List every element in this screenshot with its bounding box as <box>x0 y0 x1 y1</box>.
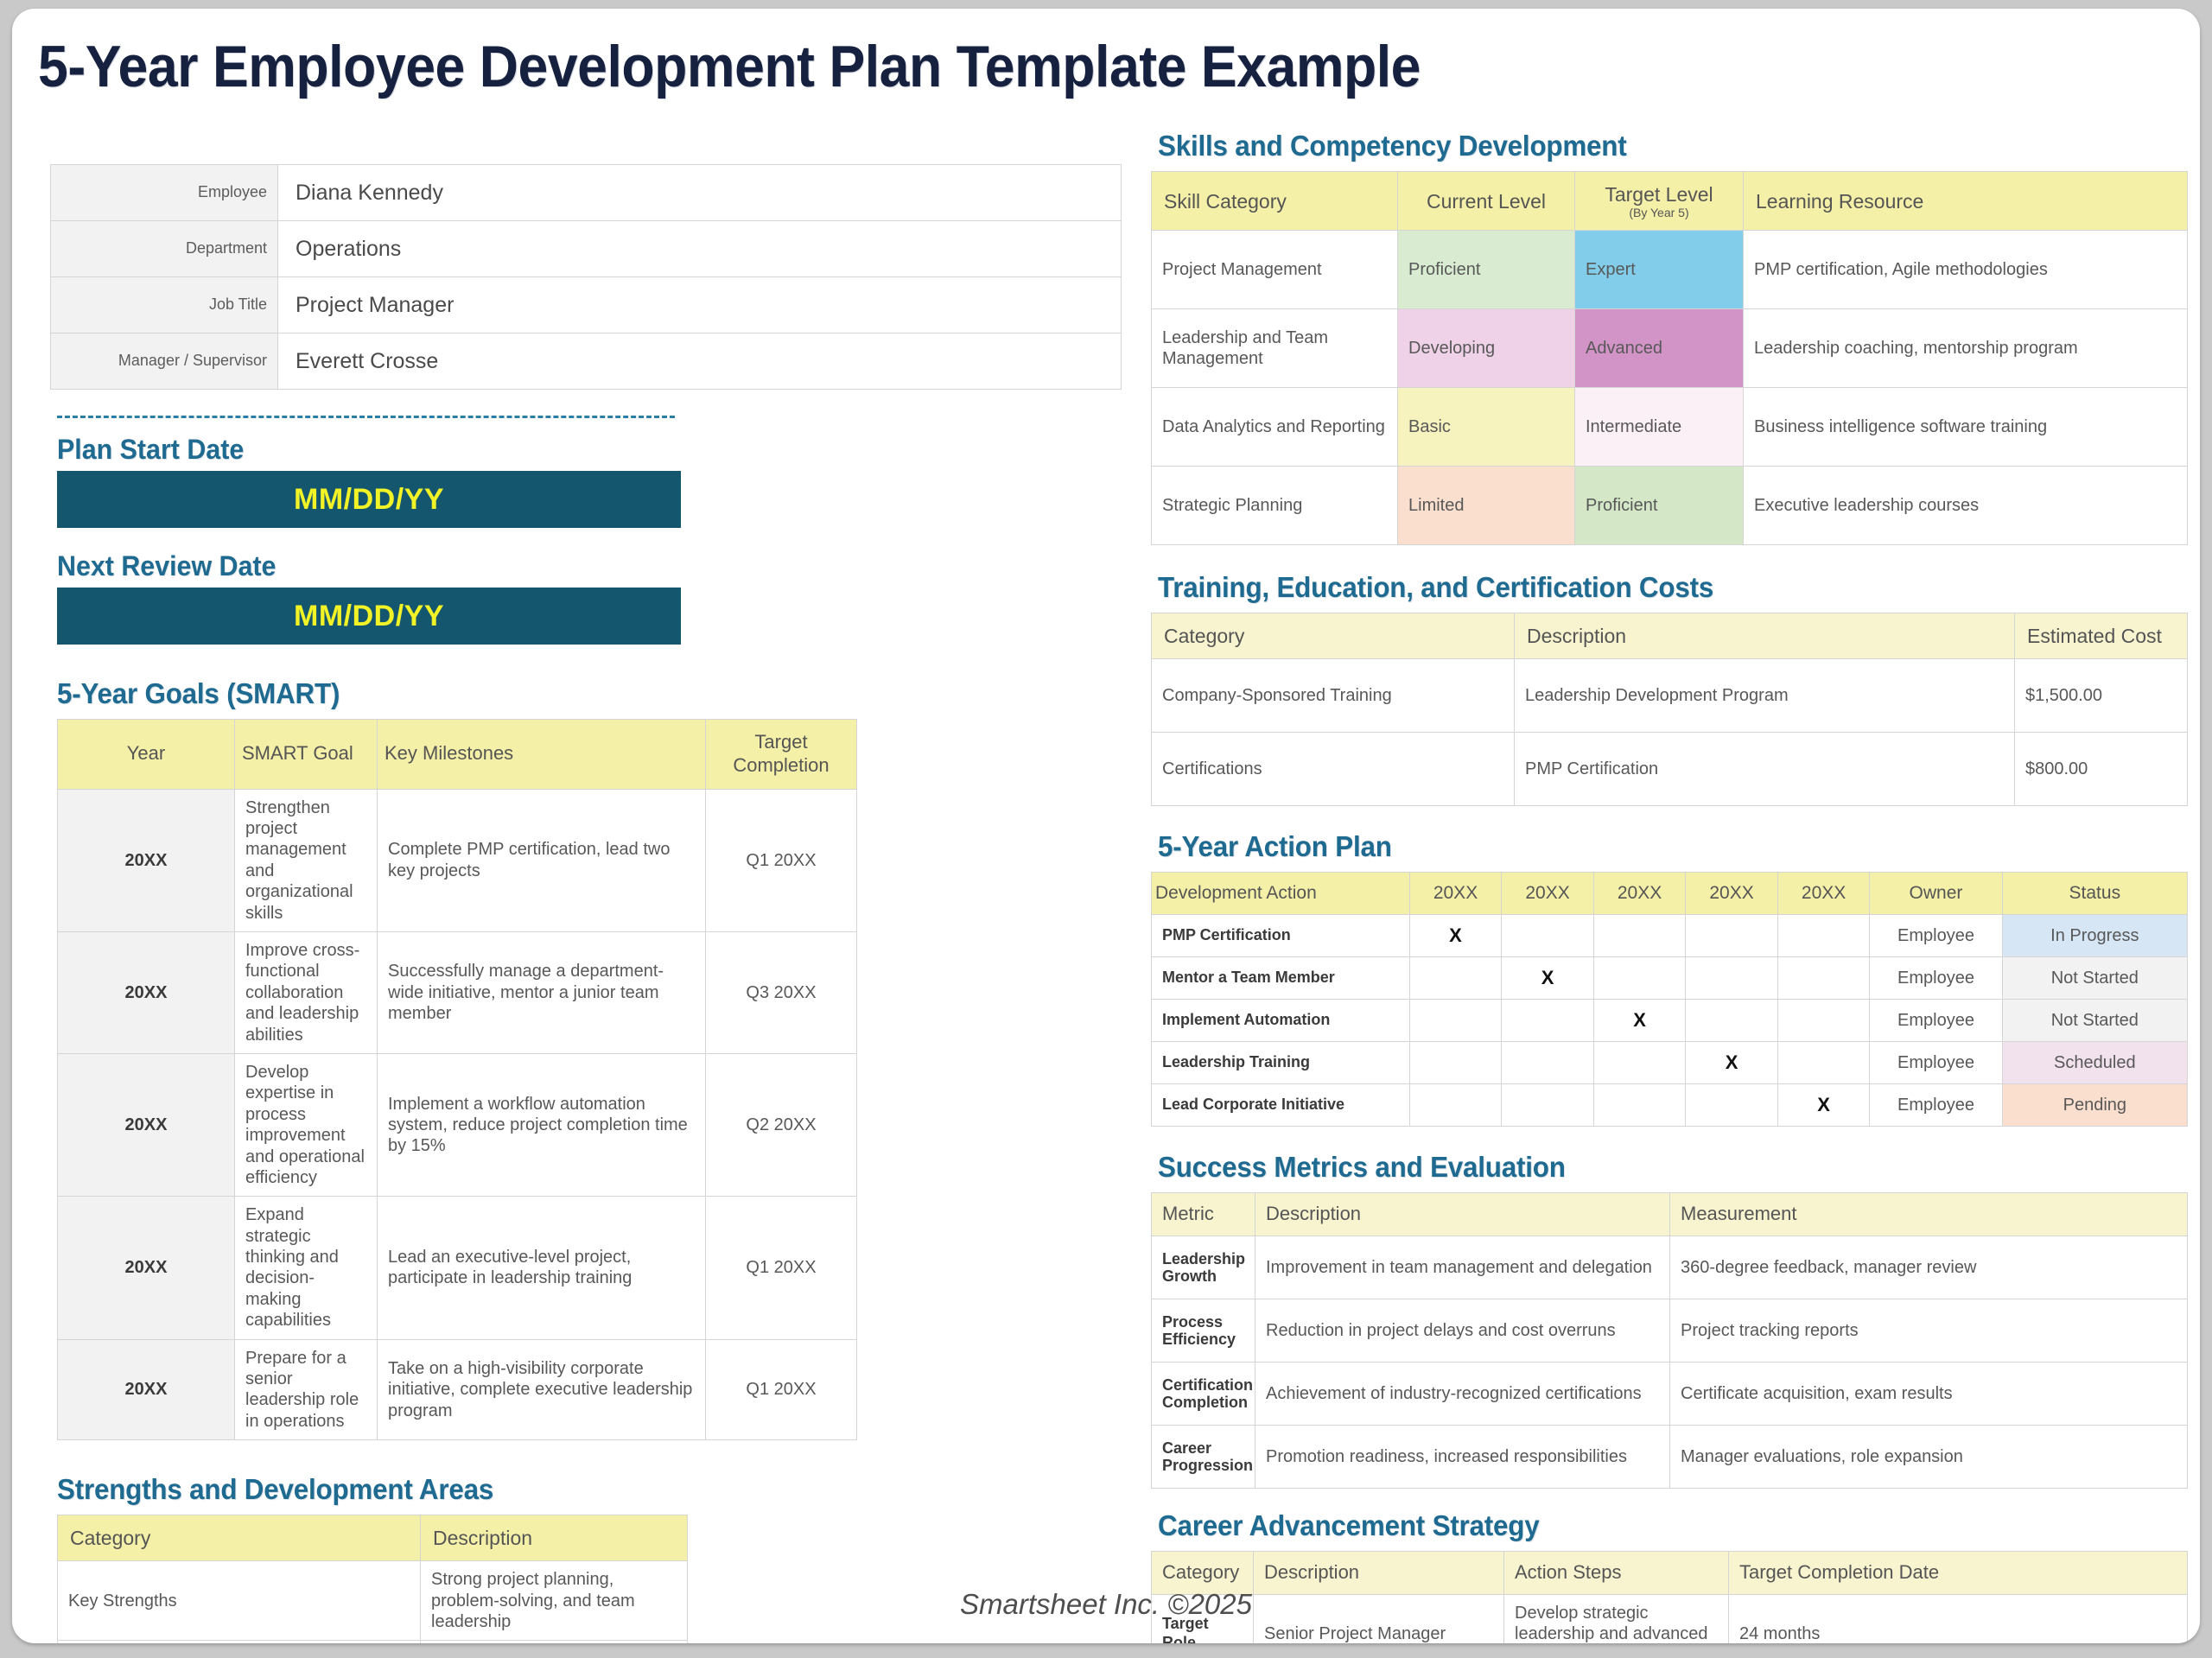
action-year-mark[interactable] <box>1777 1000 1870 1042</box>
action-year-mark[interactable] <box>1686 915 1778 957</box>
action-name: Mentor a Team Member <box>1152 957 1410 1000</box>
cost-description: Leadership Development Program <box>1515 659 2015 733</box>
skill-category: Leadership and Team Management <box>1152 309 1398 388</box>
action-year-mark[interactable] <box>1593 957 1686 1000</box>
action-owner: Employee <box>1870 957 2002 1000</box>
action-col-owner: Owner <box>1870 873 2002 915</box>
action-year-mark[interactable] <box>1777 1042 1870 1084</box>
skills-heading: Skills and Competency Development <box>1158 130 2136 162</box>
goal-year: 20XX <box>58 932 235 1054</box>
goal-smart: Develop expertise in process improvement… <box>235 1053 378 1196</box>
department-label: Department <box>51 221 278 277</box>
skill-resource: Leadership coaching, mentorship program <box>1744 309 2188 388</box>
action-col-year-5: 20XX <box>1777 873 1870 915</box>
cost-description: PMP Certification <box>1515 733 2015 806</box>
skill-resource: Business intelligence software training <box>1744 388 2188 467</box>
action-plan-table: Development Action 20XX 20XX 20XX 20XX 2… <box>1151 872 2188 1127</box>
table-row: Areas for Development Advanced data anal… <box>58 1641 688 1643</box>
strengths-heading: Strengths and Development Areas <box>57 1473 1068 1506</box>
table-row: Leadership and Team Management Developin… <box>1152 309 2188 388</box>
metric-description: Reduction in project delays and cost ove… <box>1255 1299 1670 1362</box>
action-owner: Employee <box>1870 1084 2002 1127</box>
skill-current-level: Developing <box>1398 309 1575 388</box>
action-name: Leadership Training <box>1152 1042 1410 1084</box>
table-row: Process Efficiency Reduction in project … <box>1152 1299 2188 1362</box>
costs-col-estimated-cost: Estimated Cost <box>2015 613 2188 659</box>
action-name: Implement Automation <box>1152 1000 1410 1042</box>
cost-amount: $1,500.00 <box>2015 659 2188 733</box>
page-canvas: 5-Year Employee Development Plan Templat… <box>0 0 2212 1658</box>
goal-smart: Strengthen project management and organi… <box>235 789 378 931</box>
action-status: In Progress <box>2002 915 2187 957</box>
goals-heading: 5-Year Goals (SMART) <box>57 677 1068 710</box>
table-row: 20XX Expand strategic thinking and decis… <box>58 1197 857 1339</box>
goal-target: Q1 20XX <box>706 1339 857 1440</box>
table-row: 20XX Prepare for a senior leadership rol… <box>58 1339 857 1440</box>
skill-target-level: Expert <box>1575 231 1744 309</box>
action-year-mark[interactable]: X <box>1777 1084 1870 1127</box>
action-status: Pending <box>2002 1084 2187 1127</box>
table-row: Mentor a Team Member X Employee Not Star… <box>1152 957 2188 1000</box>
right-column: Skills and Competency Development Skill … <box>1151 130 2188 1643</box>
table-row: Employee Diana Kennedy <box>51 165 1122 221</box>
action-owner: Employee <box>1870 1042 2002 1084</box>
goals-col-key-milestones: Key Milestones <box>378 720 706 790</box>
table-row: Lead Corporate Initiative X Employee Pen… <box>1152 1084 2188 1127</box>
action-year-mark[interactable] <box>1686 1000 1778 1042</box>
table-row: Strategic Planning Limited Proficient Ex… <box>1152 467 2188 545</box>
metric-description: Promotion readiness, increased responsib… <box>1255 1425 1670 1488</box>
metrics-col-metric: Metric <box>1152 1193 1255 1236</box>
action-status: Not Started <box>2002 1000 2187 1042</box>
metric-name: Certification Completion <box>1152 1362 1255 1425</box>
table-row: Career Progression Promotion readiness, … <box>1152 1425 2188 1488</box>
skills-col-category: Skill Category <box>1152 172 1398 231</box>
action-year-mark[interactable] <box>1502 915 1594 957</box>
employee-label: Employee <box>51 165 278 221</box>
action-year-mark[interactable] <box>1409 1042 1502 1084</box>
strengths-col-category: Category <box>58 1515 421 1561</box>
table-header-row: Development Action 20XX 20XX 20XX 20XX 2… <box>1152 873 2188 915</box>
action-year-mark[interactable] <box>1502 1000 1594 1042</box>
goals-col-target-completion: Target Completion <box>706 720 857 790</box>
action-col-status: Status <box>2002 873 2187 915</box>
table-row: Project Management Proficient Expert PMP… <box>1152 231 2188 309</box>
skills-col-learning-resource: Learning Resource <box>1744 172 2188 231</box>
action-col-year-3: 20XX <box>1593 873 1686 915</box>
action-year-mark[interactable] <box>1502 1084 1594 1127</box>
job-title-label: Job Title <box>51 277 278 334</box>
manager-value[interactable]: Everett Crosse <box>278 334 1122 390</box>
action-year-mark[interactable] <box>1777 957 1870 1000</box>
skill-target-level: Intermediate <box>1575 388 1744 467</box>
cost-amount: $800.00 <box>2015 733 2188 806</box>
metric-name: Process Efficiency <box>1152 1299 1255 1362</box>
table-header-row: Year SMART Goal Key Milestones Target Co… <box>58 720 857 790</box>
table-row: Certification Completion Achievement of … <box>1152 1362 2188 1425</box>
strength-category: Areas for Development <box>58 1641 421 1643</box>
goal-milestone: Complete PMP certification, lead two key… <box>378 789 706 931</box>
action-col-year-4: 20XX <box>1686 873 1778 915</box>
table-row: Department Operations <box>51 221 1122 277</box>
action-year-mark[interactable]: X <box>1686 1042 1778 1084</box>
table-header-row: Skill Category Current Level Target Leve… <box>1152 172 2188 231</box>
table-row: 20XX Strengthen project management and o… <box>58 789 857 931</box>
table-header-row: Category Description Estimated Cost <box>1152 613 2188 659</box>
action-col-year-2: 20XX <box>1502 873 1594 915</box>
action-name: PMP Certification <box>1152 915 1410 957</box>
skills-table: Skill Category Current Level Target Leve… <box>1151 171 2188 545</box>
metric-description: Improvement in team management and deleg… <box>1255 1236 1670 1299</box>
employee-info-table: Employee Diana Kennedy Department Operat… <box>50 164 1122 390</box>
skill-category: Strategic Planning <box>1152 467 1398 545</box>
goal-target: Q3 20XX <box>706 932 857 1054</box>
table-row: Leadership Growth Improvement in team ma… <box>1152 1236 2188 1299</box>
skill-resource: Executive leadership courses <box>1744 467 2188 545</box>
action-status: Not Started <box>2002 957 2187 1000</box>
next-review-date-label: Next Review Date <box>57 550 1068 582</box>
cost-category: Company-Sponsored Training <box>1152 659 1515 733</box>
metrics-table: Metric Description Measurement Leadershi… <box>1151 1192 2188 1489</box>
action-year-mark[interactable] <box>1686 1084 1778 1127</box>
action-year-mark[interactable] <box>1593 1042 1686 1084</box>
strengths-table: Category Description Key Strengths Stron… <box>57 1515 688 1643</box>
action-col-development-action: Development Action <box>1152 873 1410 915</box>
goal-smart: Expand strategic thinking and decision-m… <box>235 1197 378 1339</box>
goal-milestone: Successfully manage a department-wide in… <box>378 932 706 1054</box>
action-col-year-1: 20XX <box>1409 873 1502 915</box>
action-status: Scheduled <box>2002 1042 2187 1084</box>
metric-name: Career Progression <box>1152 1425 1255 1488</box>
table-row: Job Title Project Manager <box>51 277 1122 334</box>
strength-description: Advanced data analytics, strategic think… <box>421 1641 688 1643</box>
goal-year: 20XX <box>58 1053 235 1196</box>
skills-col-target-level: Target Level (By Year 5) <box>1575 172 1744 231</box>
goal-year: 20XX <box>58 789 235 931</box>
table-header-row: Category Description <box>58 1515 688 1561</box>
strengths-col-description: Description <box>421 1515 688 1561</box>
goal-target: Q1 20XX <box>706 1197 857 1339</box>
goal-milestone: Lead an executive-level project, partici… <box>378 1197 706 1339</box>
action-year-mark[interactable]: X <box>1593 1000 1686 1042</box>
employee-value[interactable]: Diana Kennedy <box>278 165 1122 221</box>
metrics-heading: Success Metrics and Evaluation <box>1158 1151 2136 1184</box>
manager-label: Manager / Supervisor <box>51 334 278 390</box>
action-year-mark[interactable]: X <box>1502 957 1594 1000</box>
table-row: Data Analytics and Reporting Basic Inter… <box>1152 388 2188 467</box>
skill-current-level: Limited <box>1398 467 1575 545</box>
table-row: Leadership Training X Employee Scheduled <box>1152 1042 2188 1084</box>
skill-category: Project Management <box>1152 231 1398 309</box>
next-review-date-value[interactable]: MM/DD/YY <box>57 588 681 645</box>
costs-col-description: Description <box>1515 613 2015 659</box>
goal-milestone: Implement a workflow automation system, … <box>378 1053 706 1196</box>
dashed-divider <box>57 416 675 418</box>
skill-current-level: Basic <box>1398 388 1575 467</box>
goal-milestone: Take on a high-visibility corporate init… <box>378 1339 706 1440</box>
goal-year: 20XX <box>58 1339 235 1440</box>
goal-smart: Prepare for a senior leadership role in … <box>235 1339 378 1440</box>
goals-col-smart-goal: SMART Goal <box>235 720 378 790</box>
table-row: 20XX Improve cross-functional collaborat… <box>58 932 857 1054</box>
metric-measurement: 360-degree feedback, manager review <box>1670 1236 2188 1299</box>
table-row: Manager / Supervisor Everett Crosse <box>51 334 1122 390</box>
table-header-row: Metric Description Measurement <box>1152 1193 2188 1236</box>
skills-col-current-level: Current Level <box>1398 172 1575 231</box>
skill-category: Data Analytics and Reporting <box>1152 388 1398 467</box>
skill-target-level: Advanced <box>1575 309 1744 388</box>
action-owner: Employee <box>1870 1000 2002 1042</box>
skill-current-level: Proficient <box>1398 231 1575 309</box>
table-row: Implement Automation X Employee Not Star… <box>1152 1000 2188 1042</box>
metric-name: Leadership Growth <box>1152 1236 1255 1299</box>
page-title: 5-Year Employee Development Plan Templat… <box>38 33 1421 100</box>
metric-measurement: Project tracking reports <box>1670 1299 2188 1362</box>
cost-category: Certifications <box>1152 733 1515 806</box>
action-plan-heading: 5-Year Action Plan <box>1158 830 2136 863</box>
document-sheet: 5-Year Employee Development Plan Templat… <box>12 9 2200 1643</box>
goal-year: 20XX <box>58 1197 235 1339</box>
metric-measurement: Manager evaluations, role expansion <box>1670 1425 2188 1488</box>
plan-start-date-label: Plan Start Date <box>57 434 1068 466</box>
job-title-value[interactable]: Project Manager <box>278 277 1122 334</box>
costs-heading: Training, Education, and Certification C… <box>1158 571 2136 604</box>
action-year-mark[interactable] <box>1593 915 1686 957</box>
table-row: PMP Certification X Employee In Progress <box>1152 915 2188 957</box>
costs-col-category: Category <box>1152 613 1515 659</box>
action-year-mark[interactable] <box>1409 1084 1502 1127</box>
career-heading: Career Advancement Strategy <box>1158 1509 2136 1542</box>
action-year-mark[interactable]: X <box>1409 915 1502 957</box>
action-year-mark[interactable] <box>1409 957 1502 1000</box>
skills-col-target-level-text: Target Level <box>1605 183 1713 206</box>
goal-target: Q1 20XX <box>706 789 857 931</box>
department-value[interactable]: Operations <box>278 221 1122 277</box>
action-year-mark[interactable] <box>1409 1000 1502 1042</box>
table-row: Company-Sponsored Training Leadership De… <box>1152 659 2188 733</box>
left-column: Employee Diana Kennedy Department Operat… <box>50 164 1122 1643</box>
table-row: 20XX Develop expertise in process improv… <box>58 1053 857 1196</box>
goal-smart: Improve cross-functional collaboration a… <box>235 932 378 1054</box>
metrics-col-description: Description <box>1255 1193 1670 1236</box>
action-year-mark[interactable] <box>1777 915 1870 957</box>
metrics-col-measurement: Measurement <box>1670 1193 2188 1236</box>
goal-target: Q2 20XX <box>706 1053 857 1196</box>
goals-col-year: Year <box>58 720 235 790</box>
goals-table: Year SMART Goal Key Milestones Target Co… <box>57 719 857 1440</box>
action-year-mark[interactable] <box>1593 1084 1686 1127</box>
skill-resource: PMP certification, Agile methodologies <box>1744 231 2188 309</box>
plan-start-date-value[interactable]: MM/DD/YY <box>57 471 681 528</box>
metric-description: Achievement of industry-recognized certi… <box>1255 1362 1670 1425</box>
skill-target-level: Proficient <box>1575 467 1744 545</box>
costs-table: Category Description Estimated Cost Comp… <box>1151 613 2188 806</box>
action-name: Lead Corporate Initiative <box>1152 1084 1410 1127</box>
action-year-mark[interactable] <box>1686 957 1778 1000</box>
footer-copyright: Smartsheet Inc. ©2025 <box>12 1588 2200 1621</box>
skills-col-target-level-sub: (By Year 5) <box>1587 206 1731 219</box>
metric-measurement: Certificate acquisition, exam results <box>1670 1362 2188 1425</box>
table-row: Certifications PMP Certification $800.00 <box>1152 733 2188 806</box>
action-owner: Employee <box>1870 915 2002 957</box>
action-year-mark[interactable] <box>1502 1042 1594 1084</box>
